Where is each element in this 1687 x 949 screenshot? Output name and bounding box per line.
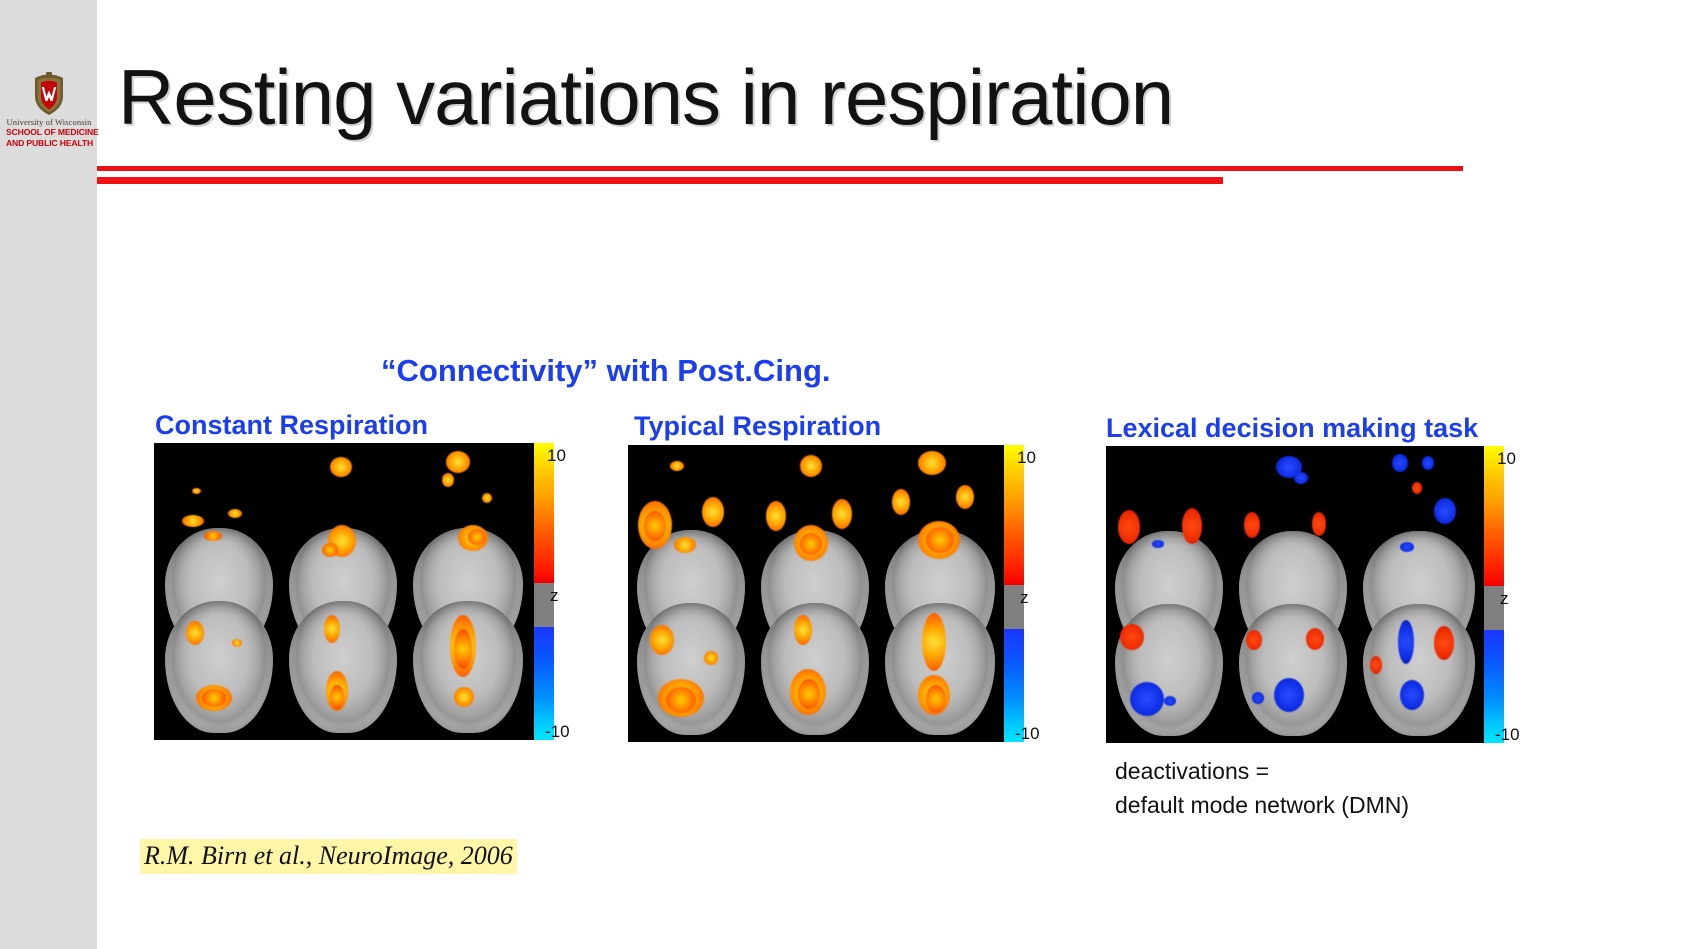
colorbar-label-mid-2: z <box>1020 588 1029 608</box>
brain-slices-lexical-decision-task <box>1106 446 1484 743</box>
brain-slices-constant-respiration <box>154 443 534 740</box>
citation-text: R.M. Birn et al., NeuroImage, 2006 <box>140 839 517 874</box>
colorbar-label-mid-1: z <box>550 586 559 606</box>
colorbar-label-bottom-3: -10 <box>1495 725 1520 745</box>
logo-school-line1: SCHOOL OF MEDICINE <box>6 128 92 138</box>
connectivity-subtitle: “Connectivity” with Post.Cing. <box>381 353 831 389</box>
logo-school-line2: AND PUBLIC HEALTH <box>6 139 92 149</box>
colorbar-label-top-1: 10 <box>547 446 566 466</box>
dmn-caption: deactivations = default mode network (DM… <box>1115 755 1409 823</box>
uw-crest-icon <box>29 68 69 116</box>
panel-label-constant-respiration: Constant Respiration <box>155 410 428 441</box>
title-rule-lower <box>97 177 1223 184</box>
panel-label-lexical-decision-task: Lexical decision making task <box>1106 413 1478 444</box>
slide-title: Resting variations in respiration <box>118 58 1173 136</box>
panel-label-typical-respiration: Typical Respiration <box>634 411 881 442</box>
uw-smph-logo: University of Wisconsin SCHOOL OF MEDICI… <box>6 68 92 149</box>
colorbar-label-top-3: 10 <box>1497 449 1516 469</box>
logo-university-text: University of Wisconsin <box>6 118 92 127</box>
dmn-caption-line2: default mode network (DMN) <box>1115 789 1409 823</box>
left-sidebar-band: University of Wisconsin SCHOOL OF MEDICI… <box>0 0 97 949</box>
colorbar-label-top-2: 10 <box>1017 448 1036 468</box>
title-rule-upper <box>97 166 1463 171</box>
dmn-caption-line1: deactivations = <box>1115 755 1409 789</box>
brain-slices-typical-respiration <box>628 445 1004 742</box>
colorbar-label-mid-3: z <box>1500 589 1509 609</box>
colorbar-label-bottom-2: -10 <box>1015 724 1040 744</box>
colorbar-label-bottom-1: -10 <box>545 722 570 742</box>
